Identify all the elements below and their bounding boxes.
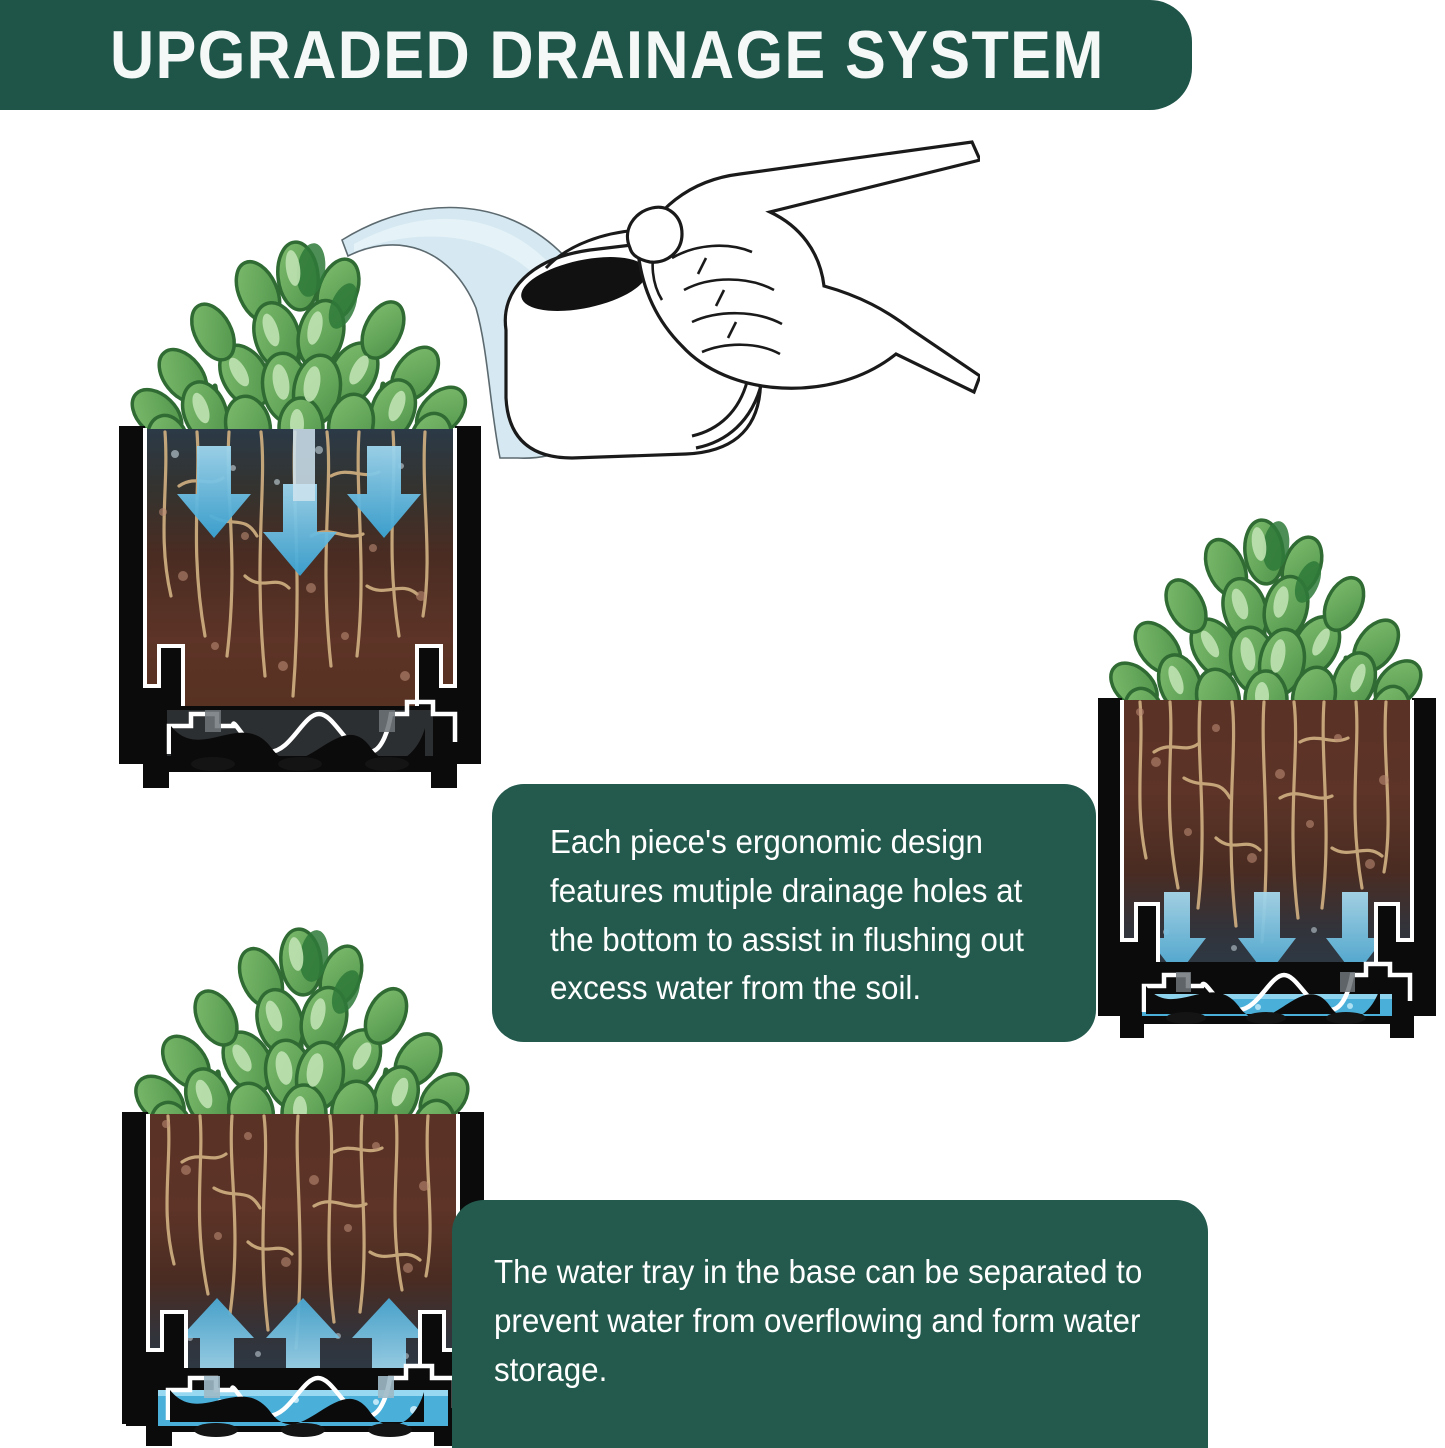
planter-wicking-illustration (108, 924, 498, 1448)
water-flow-arrows-up (180, 1298, 426, 1380)
planter-draining-svg (1088, 512, 1445, 1052)
callout-water-tray-text: The water tray in the base can be separa… (494, 1248, 1148, 1394)
watering-can-illustration (300, 140, 980, 510)
base-feet (191, 757, 409, 771)
planter-wicking-svg (108, 924, 498, 1448)
base-feet (194, 1423, 412, 1437)
callout-drainage-holes-text: Each piece's ergonomic design features m… (550, 818, 1044, 1013)
page-title: UPGRADED DRAINAGE SYSTEM (110, 21, 1105, 89)
infographic-canvas: UPGRADED DRAINAGE SYSTEM (0, 0, 1445, 1448)
watering-can-svg (300, 140, 980, 510)
callout-water-tray: The water tray in the base can be separa… (452, 1200, 1208, 1448)
planter-draining-illustration (1088, 512, 1445, 1052)
header-banner: UPGRADED DRAINAGE SYSTEM (0, 0, 1192, 110)
base-feet (1166, 1012, 1366, 1024)
callout-drainage-holes: Each piece's ergonomic design features m… (492, 784, 1096, 1042)
